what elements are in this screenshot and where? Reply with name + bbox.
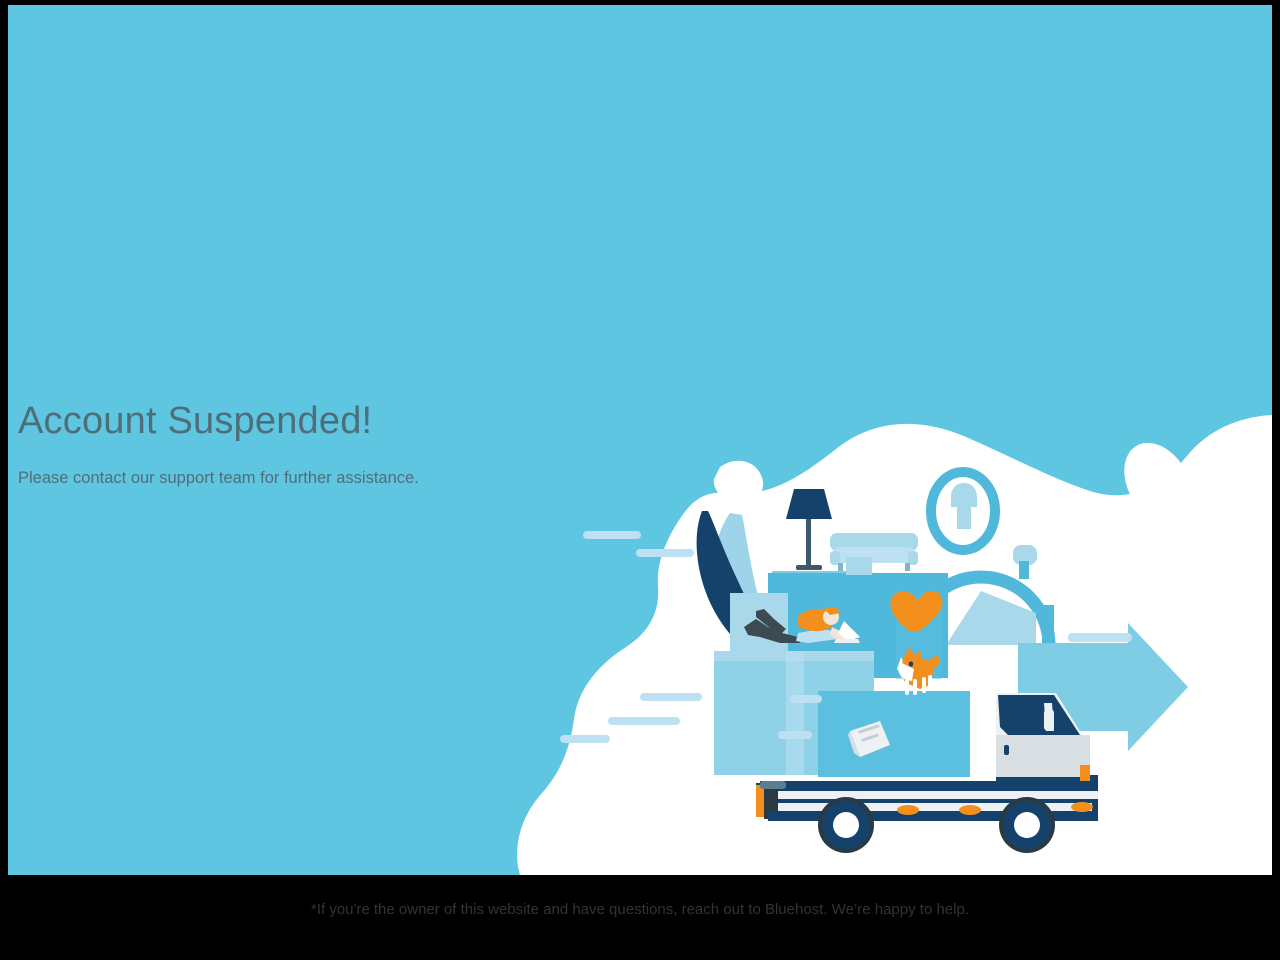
page-root: Account Suspended! Please contact our su… bbox=[0, 0, 1280, 960]
message-block: Account Suspended! Please contact our su… bbox=[18, 400, 618, 490]
page-title: Account Suspended! bbox=[18, 400, 618, 444]
arrow-tail-line bbox=[1076, 633, 1132, 642]
footer-bar: *If you're the owner of this website and… bbox=[0, 875, 1280, 960]
box-front bbox=[818, 691, 970, 777]
hero-panel: Account Suspended! Please contact our su… bbox=[8, 5, 1272, 875]
footer-owner-note: *If you're the owner of this website and… bbox=[311, 899, 969, 920]
page-subtitle: Please contact our support team for furt… bbox=[18, 467, 618, 490]
